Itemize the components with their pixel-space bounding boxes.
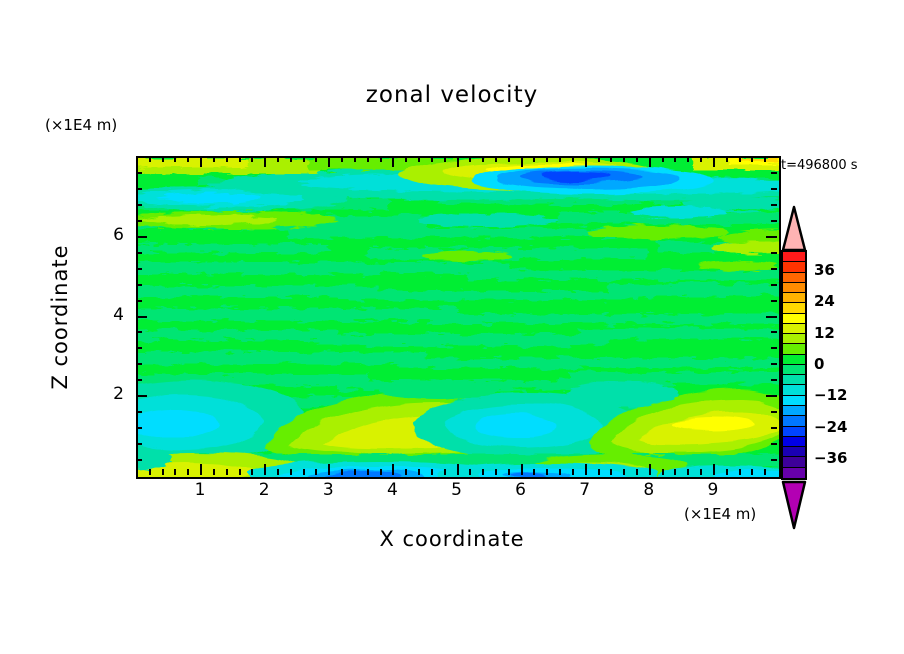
x-tick-bottom: [174, 469, 176, 475]
x-tick-bottom: [469, 469, 471, 475]
x-tick-top: [226, 156, 228, 162]
x-tick-bottom: [444, 469, 446, 475]
x-tick-bottom: [687, 469, 689, 475]
colorbar-tick-label: −24: [814, 418, 847, 436]
x-tick-bottom: [598, 469, 600, 475]
x-tick-label: 3: [308, 480, 348, 500]
x-tick-bottom: [277, 469, 279, 475]
x-tick-top: [213, 156, 215, 162]
y-tick-label: 4: [84, 305, 124, 325]
x-tick-top: [328, 156, 330, 167]
colorbar-band: [783, 375, 805, 385]
x-tick-bottom: [700, 469, 702, 475]
x-tick-top: [623, 156, 625, 162]
y-tick-left: [136, 220, 142, 222]
y-tick-right: [771, 379, 777, 381]
x-tick-top: [367, 156, 369, 162]
x-tick-top: [469, 156, 471, 162]
x-tick-bottom: [521, 464, 523, 475]
colorbar-band: [783, 468, 805, 478]
x-tick-top: [200, 156, 202, 167]
x-tick-top: [533, 156, 535, 162]
y-tick-left: [136, 459, 142, 461]
y-tick-left: [136, 411, 142, 413]
colorbar-band: [783, 355, 805, 365]
colorbar-band: [783, 344, 805, 354]
x-tick-top: [444, 156, 446, 162]
x-tick-top: [405, 156, 407, 162]
x-tick-top: [585, 156, 587, 167]
y-tick-right: [771, 347, 777, 349]
x-tick-top: [431, 156, 433, 162]
x-tick-bottom: [533, 469, 535, 475]
y-tick-right: [771, 204, 777, 206]
x-tick-bottom: [251, 469, 253, 475]
x-tick-label: 2: [244, 480, 284, 500]
x-tick-bottom: [162, 469, 164, 475]
colorbar-band: [783, 252, 805, 262]
colorbar-band: [783, 293, 805, 303]
colorbar-band: [783, 273, 805, 283]
colorbar-under-cap: [781, 480, 807, 530]
x-tick-top: [162, 156, 164, 162]
x-tick-top: [315, 156, 317, 162]
x-tick-bottom: [149, 469, 151, 475]
y-tick-right: [771, 220, 777, 222]
colorbar-band: [783, 262, 805, 272]
x-tick-bottom: [572, 469, 574, 475]
colorbar-band: [783, 396, 805, 406]
y-tick-right: [771, 172, 777, 174]
x-tick-bottom: [392, 464, 394, 475]
y-tick-right: [766, 395, 777, 397]
x-tick-bottom: [457, 464, 459, 475]
x-tick-label: 6: [501, 480, 541, 500]
x-tick-top: [174, 156, 176, 162]
y-tick-left: [136, 363, 142, 365]
x-tick-top: [610, 156, 612, 162]
x-tick-top: [700, 156, 702, 162]
x-tick-bottom: [405, 469, 407, 475]
x-tick-bottom: [200, 464, 202, 475]
x-tick-top: [521, 156, 523, 167]
y-tick-right: [771, 363, 777, 365]
x-tick-top: [277, 156, 279, 162]
x-tick-bottom: [751, 469, 753, 475]
y-tick-left: [136, 331, 142, 333]
colorbar-band: [783, 303, 805, 313]
y-tick-left: [136, 316, 147, 318]
x-tick-top: [598, 156, 600, 162]
contour-field: [138, 158, 779, 477]
colorbar-band: [783, 437, 805, 447]
x-tick-top: [264, 156, 266, 167]
x-tick-top: [482, 156, 484, 162]
x-tick-bottom: [559, 469, 561, 475]
x-tick-bottom: [328, 464, 330, 475]
x-tick-bottom: [585, 464, 587, 475]
contour-plot-area: [136, 156, 781, 479]
x-tick-bottom: [264, 464, 266, 475]
x-tick-bottom: [610, 469, 612, 475]
x-tick-bottom: [341, 469, 343, 475]
x-tick-top: [187, 156, 189, 162]
y-tick-left: [136, 443, 142, 445]
y-tick-left: [136, 188, 142, 190]
x-tick-label: 8: [629, 480, 669, 500]
y-tick-right: [771, 459, 777, 461]
timestamp-annotation: t=496800 s: [781, 158, 858, 173]
x-tick-top: [739, 156, 741, 162]
y-tick-right: [771, 300, 777, 302]
x-tick-bottom: [290, 469, 292, 475]
x-tick-bottom: [431, 469, 433, 475]
x-tick-bottom: [380, 469, 382, 475]
x-tick-top: [546, 156, 548, 162]
y-tick-left: [136, 427, 142, 429]
x-tick-top: [303, 156, 305, 162]
y-tick-right: [771, 331, 777, 333]
x-tick-top: [251, 156, 253, 162]
x-tick-top: [687, 156, 689, 162]
y-tick-right: [771, 411, 777, 413]
y-tick-right: [771, 443, 777, 445]
x-tick-bottom: [726, 469, 728, 475]
contour-svg: [138, 158, 779, 477]
x-tick-top: [636, 156, 638, 162]
x-tick-top: [149, 156, 151, 162]
colorbar-band: [783, 283, 805, 293]
y-tick-right: [766, 316, 777, 318]
colorbar-band: [783, 447, 805, 457]
colorbar-band: [783, 314, 805, 324]
colorbar-over-cap: [781, 205, 807, 250]
x-axis-unit-label: (×1E4 m): [684, 505, 756, 523]
x-tick-top: [457, 156, 459, 167]
x-tick-bottom: [226, 469, 228, 475]
colorbar-band: [783, 427, 805, 437]
x-tick-top: [392, 156, 394, 167]
y-tick-left: [136, 300, 142, 302]
y-tick-right: [766, 236, 777, 238]
page-title: zonal velocity: [0, 82, 904, 108]
x-tick-bottom: [662, 469, 664, 475]
y-axis-unit-label: (×1E4 m): [45, 116, 117, 134]
y-tick-label: 6: [84, 225, 124, 245]
x-tick-top: [508, 156, 510, 162]
y-tick-right: [771, 252, 777, 254]
x-tick-top: [674, 156, 676, 162]
colorbar-band: [783, 385, 805, 395]
colorbar-tick-label: 24: [814, 292, 835, 310]
colorbar-tick-label: 0: [814, 355, 824, 373]
x-tick-label: 5: [437, 480, 477, 500]
x-tick-top: [649, 156, 651, 167]
x-tick-label: 1: [180, 480, 220, 500]
x-tick-bottom: [239, 469, 241, 475]
y-tick-left: [136, 395, 147, 397]
x-tick-bottom: [418, 469, 420, 475]
x-tick-bottom: [482, 469, 484, 475]
x-tick-bottom: [739, 469, 741, 475]
y-tick-right: [771, 427, 777, 429]
x-tick-top: [559, 156, 561, 162]
x-tick-bottom: [508, 469, 510, 475]
contour-figure: zonal velocity (×1E4 m) (×1E4 m) t=49680…: [0, 0, 904, 654]
y-tick-left: [136, 284, 142, 286]
x-tick-bottom: [674, 469, 676, 475]
colorbar-band: [783, 324, 805, 334]
x-tick-label: 9: [693, 480, 733, 500]
y-tick-left: [136, 379, 142, 381]
y-tick-left: [136, 347, 142, 349]
x-tick-top: [751, 156, 753, 162]
colorbar: 3624120−12−24−36: [781, 205, 821, 525]
x-tick-bottom: [187, 469, 189, 475]
colorbar-bands: [781, 250, 807, 480]
x-tick-top: [239, 156, 241, 162]
x-tick-top: [495, 156, 497, 162]
x-tick-bottom: [495, 469, 497, 475]
x-tick-bottom: [649, 464, 651, 475]
x-tick-top: [354, 156, 356, 162]
y-tick-right: [771, 268, 777, 270]
x-tick-bottom: [367, 469, 369, 475]
x-tick-label: 4: [372, 480, 412, 500]
y-axis-title: Z coordinate: [48, 227, 72, 407]
y-tick-left: [136, 236, 147, 238]
x-tick-bottom: [213, 469, 215, 475]
colorbar-tick-label: −12: [814, 386, 847, 404]
x-tick-bottom: [546, 469, 548, 475]
colorbar-band: [783, 334, 805, 344]
x-tick-label: 7: [565, 480, 605, 500]
y-tick-label: 2: [84, 384, 124, 404]
x-tick-bottom: [303, 469, 305, 475]
x-tick-bottom: [354, 469, 356, 475]
colorbar-band: [783, 406, 805, 416]
x-tick-top: [290, 156, 292, 162]
y-tick-left: [136, 268, 142, 270]
x-tick-bottom: [636, 469, 638, 475]
x-tick-bottom: [713, 464, 715, 475]
x-tick-bottom: [315, 469, 317, 475]
colorbar-tick-label: 12: [814, 324, 835, 342]
y-tick-right: [771, 284, 777, 286]
x-tick-top: [418, 156, 420, 162]
y-tick-right: [771, 188, 777, 190]
x-tick-top: [380, 156, 382, 162]
y-tick-left: [136, 204, 142, 206]
colorbar-band: [783, 416, 805, 426]
x-tick-top: [662, 156, 664, 162]
colorbar-tick-label: 36: [814, 261, 835, 279]
colorbar-band: [783, 457, 805, 467]
y-tick-left: [136, 252, 142, 254]
colorbar-tick-label: −36: [814, 449, 847, 467]
x-tick-top: [726, 156, 728, 162]
x-tick-bottom: [623, 469, 625, 475]
x-tick-top: [764, 156, 766, 162]
x-tick-top: [572, 156, 574, 162]
x-tick-bottom: [764, 469, 766, 475]
x-tick-top: [341, 156, 343, 162]
y-tick-left: [136, 172, 142, 174]
x-axis-title: X coordinate: [0, 527, 904, 551]
x-tick-top: [713, 156, 715, 167]
colorbar-band: [783, 365, 805, 375]
